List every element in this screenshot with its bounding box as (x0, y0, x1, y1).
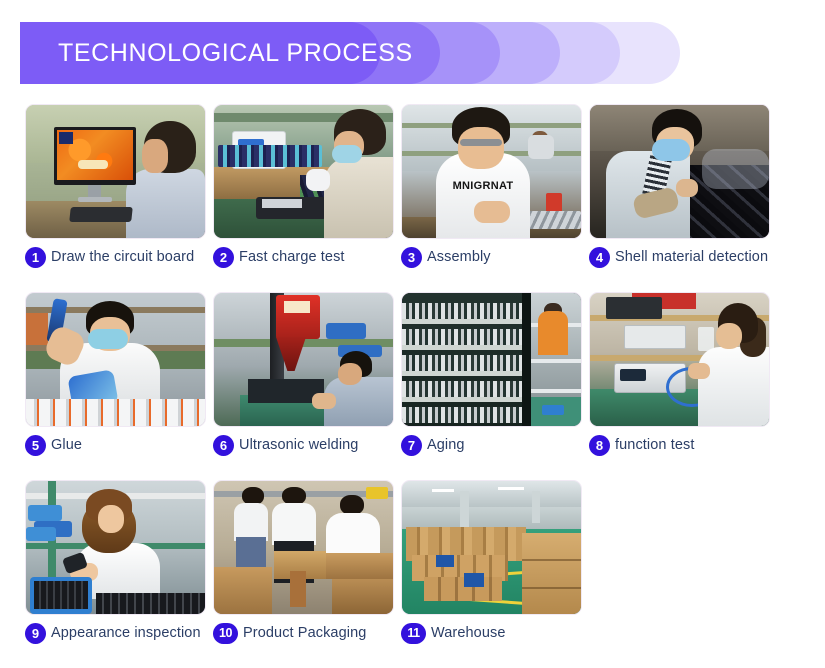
step-5-caption: 5 Glue (25, 432, 230, 458)
process-step-3[interactable]: MNIGRNAT 3 Assembly (401, 104, 580, 239)
step-7-image (401, 292, 582, 427)
step-10-image (213, 480, 394, 615)
process-row-3: 9 Appearance inspection 10 Product Packa… (0, 480, 825, 668)
process-step-2[interactable]: 2 Fast charge test (213, 104, 392, 239)
process-row-1: 1 Draw the circuit board 2 Fast charge t… (0, 104, 825, 292)
step-label: Glue (51, 437, 82, 453)
process-step-4[interactable]: 4 Shell material detection (589, 104, 768, 239)
process-step-1[interactable]: 1 Draw the circuit board (25, 104, 204, 239)
process-step-6[interactable]: 6 Ultrasonic welding (213, 292, 392, 427)
step-label: Fast charge test (239, 249, 345, 265)
process-step-9[interactable]: 9 Appearance inspection (25, 480, 204, 615)
step-11-caption: 11 Warehouse (401, 620, 606, 646)
step-number-badge: 2 (213, 247, 234, 268)
step-number-badge: 10 (213, 623, 238, 644)
step-number-badge: 6 (213, 435, 234, 456)
step-4-caption: 4 Shell material detection (589, 244, 794, 270)
step-label: Warehouse (431, 625, 506, 641)
step-10-caption: 10 Product Packaging (213, 620, 418, 646)
step-1-caption: 1 Draw the circuit board (25, 244, 230, 270)
process-row-2: 5 Glue 6 Ultrasonic welding (0, 292, 825, 480)
step-label: Shell material detection (615, 249, 768, 265)
step-label: Ultrasonic welding (239, 437, 358, 453)
step-label: function test (615, 437, 695, 453)
step-number-badge: 3 (401, 247, 422, 268)
step-3-caption: 3 Assembly (401, 244, 606, 270)
process-step-8[interactable]: 8 function test (589, 292, 768, 427)
step-5-image (25, 292, 206, 427)
step-11-image (401, 480, 582, 615)
step-label: Aging (427, 437, 465, 453)
step-6-image (213, 292, 394, 427)
step-number-badge: 11 (401, 623, 426, 644)
step-7-caption: 7 Aging (401, 432, 606, 458)
step-1-image (25, 104, 206, 239)
step-number-badge: 7 (401, 435, 422, 456)
step-label: Product Packaging (243, 625, 366, 641)
step-2-image (213, 104, 394, 239)
process-step-11[interactable]: 11 Warehouse (401, 480, 580, 615)
step-6-caption: 6 Ultrasonic welding (213, 432, 418, 458)
step-number-badge: 9 (25, 623, 46, 644)
page-title: TECHNOLOGICAL PROCESS (58, 22, 413, 84)
process-step-10[interactable]: 10 Product Packaging (213, 480, 392, 615)
step-number-badge: 8 (589, 435, 610, 456)
page-header: TECHNOLOGICAL PROCESS (20, 22, 680, 84)
step-number-badge: 1 (25, 247, 46, 268)
step-9-image (25, 480, 206, 615)
step-label: Draw the circuit board (51, 249, 194, 265)
step-8-caption: 8 function test (589, 432, 794, 458)
step-2-caption: 2 Fast charge test (213, 244, 418, 270)
step-label: Appearance inspection (51, 625, 201, 641)
process-grid: 1 Draw the circuit board 2 Fast charge t… (0, 104, 825, 668)
step-9-caption: 9 Appearance inspection (25, 620, 230, 646)
step-number-badge: 5 (25, 435, 46, 456)
step-3-image: MNIGRNAT (401, 104, 582, 239)
step-label: Assembly (427, 249, 491, 265)
process-step-7[interactable]: 7 Aging (401, 292, 580, 427)
tshirt-text: MNIGRNAT (448, 177, 518, 195)
step-8-image (589, 292, 770, 427)
step-4-image (589, 104, 770, 239)
process-step-5[interactable]: 5 Glue (25, 292, 204, 427)
step-number-badge: 4 (589, 247, 610, 268)
